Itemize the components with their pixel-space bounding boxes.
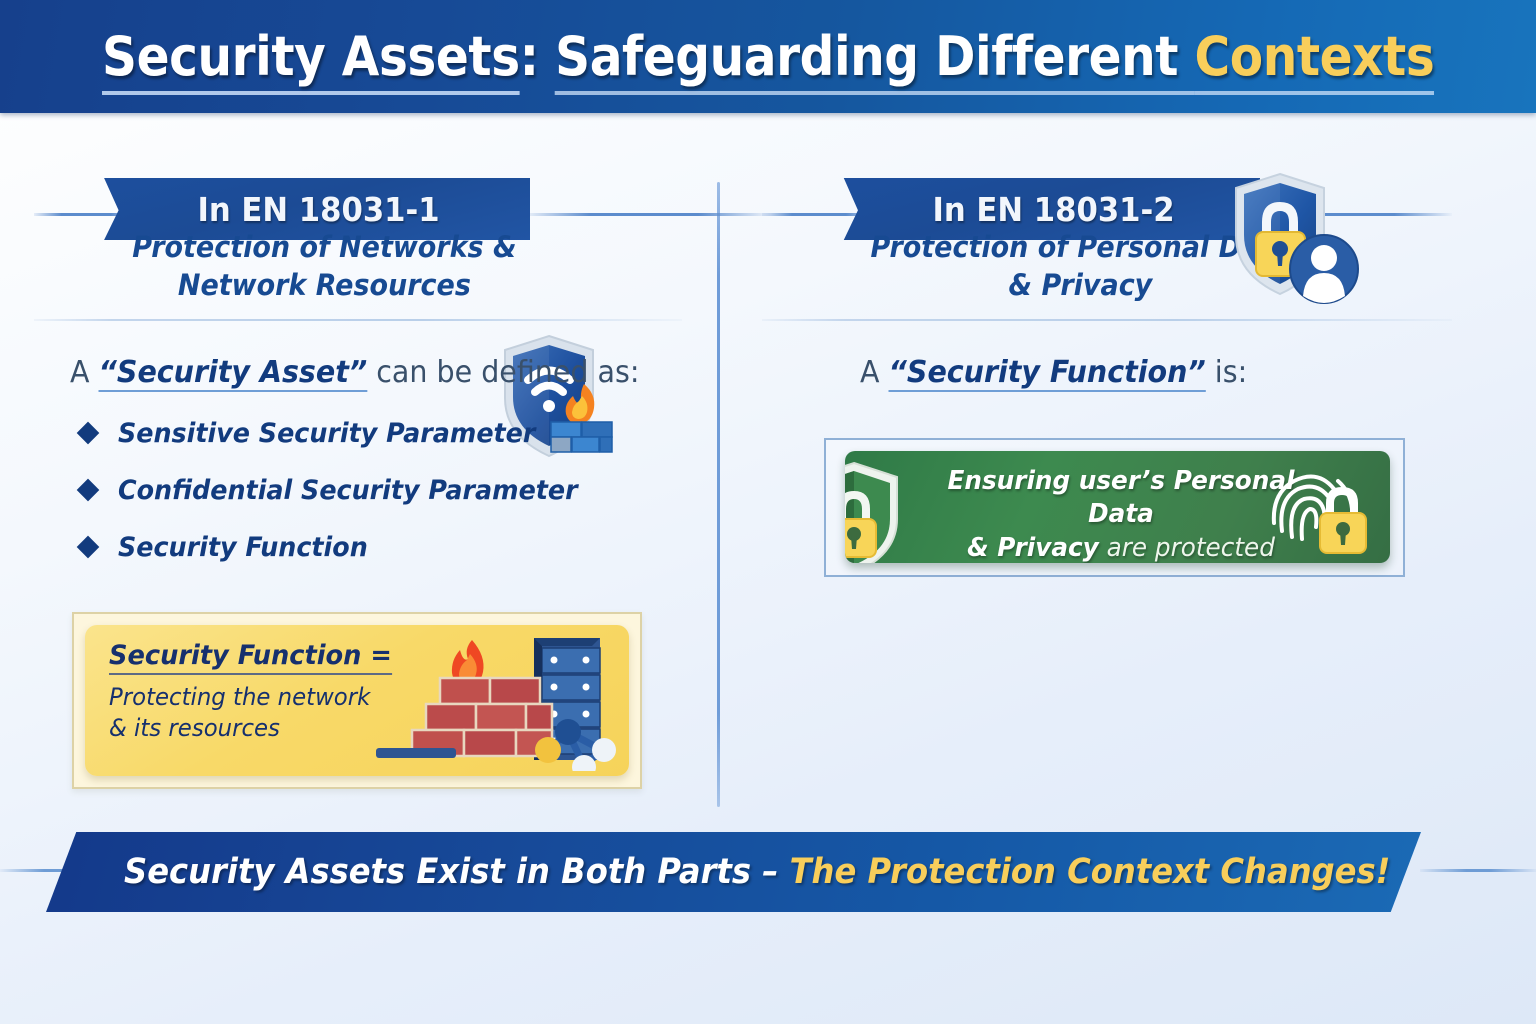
left-callout-box: Security Function = Protecting the netwo…: [85, 625, 629, 776]
right-callout-text: Ensuring user’s Personal Data & Privacy …: [931, 465, 1311, 563]
left-banner-rule-right: [530, 213, 770, 216]
shield-wifi-firewall-icon: [489, 328, 619, 473]
footer-banner: Security Assets Exist in Both Parts – Th…: [46, 832, 1421, 912]
list-item: Confidential Security Parameter: [80, 475, 689, 506]
firewall-server-art: [354, 625, 629, 776]
left-standard-label: In EN 18031-1: [181, 190, 440, 229]
right-standard-label: In EN 18031-2: [916, 190, 1175, 229]
footer-text-main: Security Assets Exist in Both Parts –: [124, 852, 790, 892]
left-subtitle-line1: Protection of Networks &: [64, 228, 585, 266]
list-item-label: Confidential Security Parameter: [118, 475, 578, 506]
list-item: Security Function: [80, 532, 689, 563]
right-callout-bold-line2: & Privacy: [967, 533, 1099, 563]
diamond-bullet-icon: [77, 479, 100, 502]
right-callout-box: Ensuring user’s Personal Data & Privacy …: [845, 451, 1390, 563]
shield-padlock-user-icon: [1222, 166, 1362, 316]
list-item-label: Sensitive Security Parameter: [118, 418, 535, 449]
page-title: Security Assets: Safeguarding Different …: [102, 25, 1434, 88]
left-callout-body-line2: & its resources: [109, 713, 394, 744]
left-section-divider: [34, 319, 682, 321]
left-subtitle: Protection of Networks & Network Resourc…: [64, 228, 585, 305]
page-title-colon: :: [520, 25, 555, 88]
infographic-page: Security Assets: Safeguarding Different …: [0, 0, 1536, 1024]
left-callout-text: Security Function = Protecting the netwo…: [109, 640, 394, 743]
left-callout-title: Security Function =: [109, 640, 392, 675]
left-banner-group: In EN 18031-1: [34, 160, 689, 222]
left-column: In EN 18031-1: [34, 160, 689, 589]
page-title-main: Security Assets: [102, 25, 520, 95]
left-callout-body-line1: Protecting the network: [109, 682, 394, 713]
diamond-bullet-icon: [77, 422, 100, 445]
left-callout-body: Protecting the network & its resources: [109, 682, 394, 743]
column-divider: [717, 182, 720, 807]
right-callout-bold-line1: Ensuring user’s Personal Data: [948, 466, 1295, 529]
header-banner: Security Assets: Safeguarding Different …: [0, 0, 1536, 113]
page-title-accent: Contexts: [1194, 25, 1434, 95]
right-callout-light: are protected: [1099, 533, 1275, 563]
shield-padlock-icon: [845, 459, 907, 563]
right-lead-text: A “Security Function” is:: [860, 355, 1422, 390]
list-item-label: Security Function: [118, 532, 368, 563]
right-section-divider: [762, 319, 1452, 321]
left-lead-prefix: A: [70, 355, 99, 390]
left-lead-text: A “Security Asset” can be defined as:: [70, 355, 658, 390]
left-lead-suffix: can be defined as:: [367, 355, 639, 390]
right-callout-frame: Ensuring user’s Personal Data & Privacy …: [824, 438, 1405, 577]
right-lead-term: “Security Function”: [889, 355, 1206, 392]
right-lead-prefix: A: [860, 355, 889, 390]
diamond-bullet-icon: [77, 536, 100, 559]
right-lead-suffix: is:: [1206, 355, 1247, 390]
footer-text: Security Assets Exist in Both Parts – Th…: [124, 852, 1390, 892]
left-lead-term: “Security Asset”: [99, 355, 368, 392]
page-title-sub: Safeguarding Different: [555, 25, 1194, 95]
footer-rule-right: [1420, 869, 1536, 872]
left-callout-frame: Security Function = Protecting the netwo…: [72, 612, 642, 789]
left-subtitle-line2: Network Resources: [64, 266, 585, 304]
fingerprint-padlock-art: [1262, 457, 1382, 563]
footer-text-accent: The Protection Context Changes!: [790, 852, 1391, 892]
